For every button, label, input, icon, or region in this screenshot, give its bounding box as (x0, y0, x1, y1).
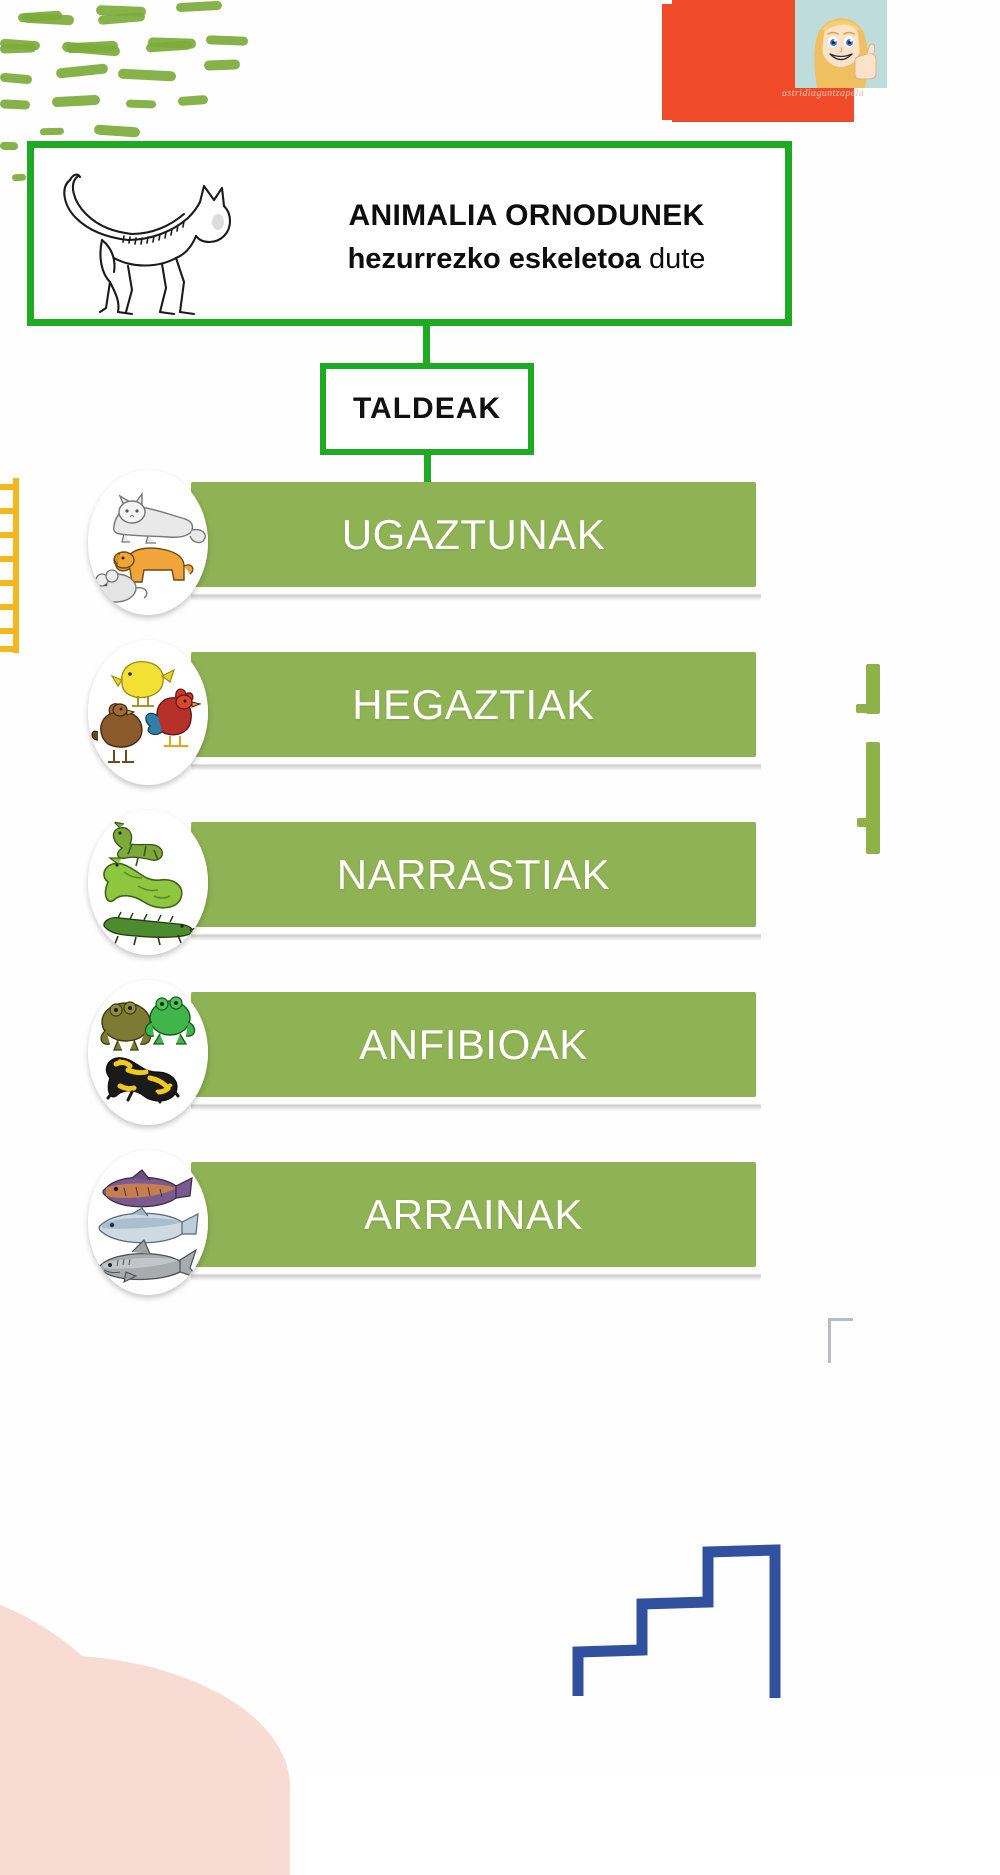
header-line-2-bold: hezurrezko eskeletoa (348, 243, 641, 275)
header-line-2: hezurrezko eskeletoa dute (264, 240, 789, 278)
header-line-2-light: dute (641, 243, 706, 275)
mammals-icon[interactable] (88, 470, 208, 615)
group-bar-shadow (191, 587, 761, 601)
group-label: HEGAZTIAK (191, 652, 756, 757)
group-row[interactable]: ANFIBIOAK (76, 980, 776, 1150)
group-row[interactable]: UGAZTUNAK (76, 470, 776, 640)
group-label: ANFIBIOAK (191, 992, 756, 1097)
group-label: UGAZTUNAK (191, 482, 756, 587)
group-row[interactable]: HEGAZTIAK (76, 640, 776, 810)
fish-icon[interactable] (88, 1150, 208, 1295)
cat-skeleton-icon (54, 162, 254, 317)
birds-icon[interactable] (88, 640, 208, 785)
vertebrates-diagram: ANIMALIA ORNODUNEK hezurrezko eskeletoa … (0, 0, 1000, 1776)
group-bar-shadow (191, 757, 761, 771)
group-bar-shadow (191, 927, 761, 941)
header-line-1: ANIMALIA ORNODUNEK (264, 196, 789, 236)
reptiles-icon[interactable] (88, 810, 208, 955)
taldeak-label: TALDEAK (353, 392, 501, 426)
taldeak-box: TALDEAK (320, 363, 534, 455)
connector-vertical-top (423, 326, 430, 366)
group-bar-shadow (191, 1097, 761, 1111)
group-row[interactable]: ARRAINAK (76, 1150, 776, 1320)
header-box: ANIMALIA ORNODUNEK hezurrezko eskeletoa … (27, 141, 792, 326)
group-label: ARRAINAK (191, 1162, 756, 1267)
group-row[interactable]: NARRASTIAK (76, 810, 776, 980)
amphibians-icon[interactable] (88, 980, 208, 1125)
group-label: NARRASTIAK (191, 822, 756, 927)
group-bar-shadow (191, 1267, 761, 1281)
header-text: ANIMALIA ORNODUNEK hezurrezko eskeletoa … (264, 196, 789, 278)
